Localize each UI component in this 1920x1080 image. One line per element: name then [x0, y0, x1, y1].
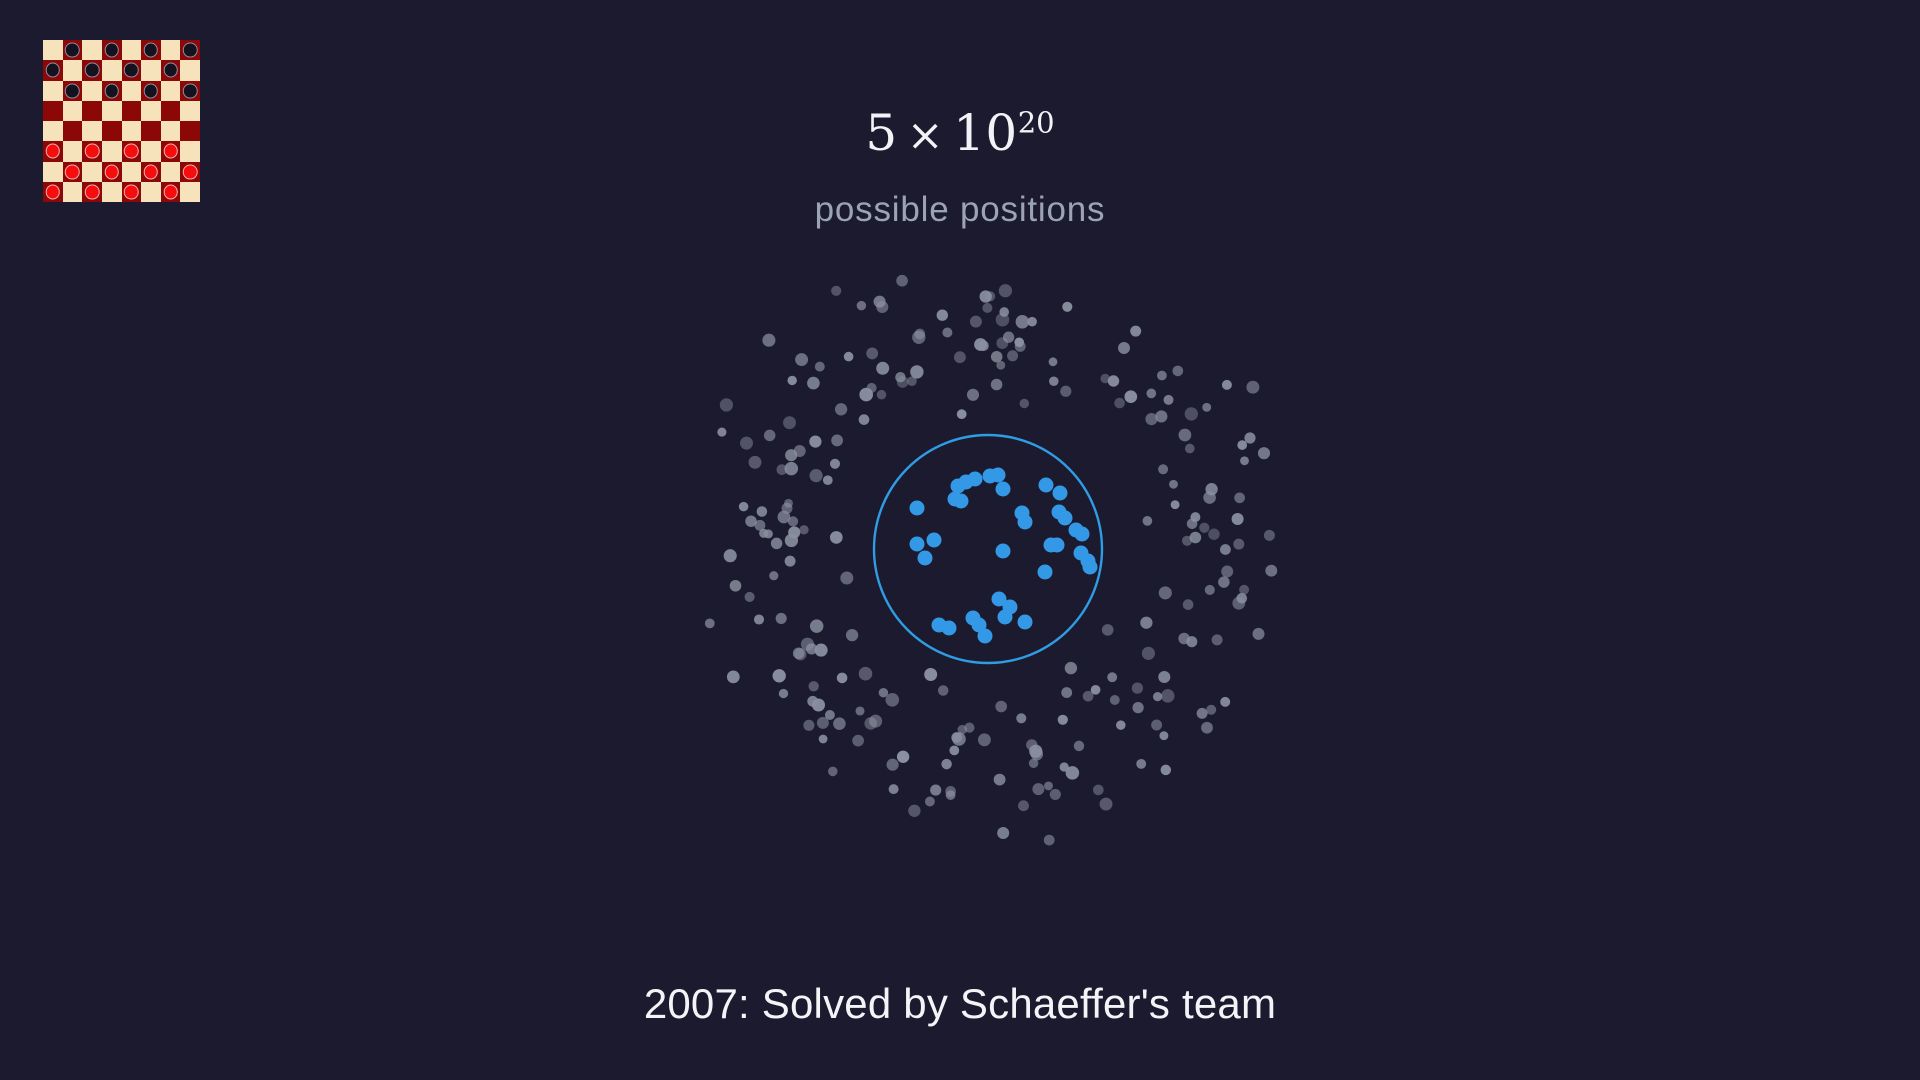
solved-position-dot	[959, 475, 974, 490]
unsolved-position-dot	[776, 613, 787, 624]
unsolved-position-dot	[996, 337, 1008, 349]
solved-position-dot	[996, 482, 1011, 497]
unsolved-position-dot	[1153, 692, 1162, 701]
unsolved-position-dot	[833, 717, 846, 730]
board-square[interactable]	[141, 40, 161, 60]
unsolved-position-dot	[844, 352, 854, 362]
unsolved-position-dot	[877, 390, 887, 400]
unsolved-position-dot	[812, 698, 825, 711]
solved-position-dot	[998, 610, 1013, 625]
unsolved-position-dot	[1146, 389, 1156, 399]
solved-positions-group	[910, 468, 1098, 644]
solved-position-dot	[1015, 506, 1030, 521]
black-checker-piece[interactable]	[65, 83, 80, 98]
unsolved-position-dot	[1220, 544, 1231, 555]
board-square[interactable]	[161, 81, 181, 101]
unsolved-position-dot	[925, 797, 935, 807]
unsolved-position-dot	[788, 526, 800, 538]
unsolved-position-dot	[1161, 689, 1174, 702]
solved-position-dot	[978, 629, 993, 644]
solved-position-dot	[910, 537, 925, 552]
solved-position-dot	[972, 618, 987, 633]
unsolved-position-dot	[1136, 759, 1146, 769]
board-square[interactable]	[161, 162, 181, 182]
unsolved-position-dot	[1201, 722, 1213, 734]
unsolved-position-dot	[806, 643, 817, 654]
unsolved-position-dot	[1158, 464, 1168, 474]
unsolved-positions-group	[705, 275, 1277, 846]
unsolved-position-dot	[785, 462, 799, 476]
black-checker-piece[interactable]	[85, 63, 100, 78]
unsolved-position-dot	[937, 310, 948, 321]
board-square[interactable]	[43, 60, 63, 80]
unsolved-position-dot	[831, 435, 843, 447]
unsolved-position-dot	[769, 571, 778, 580]
unsolved-position-dot	[1158, 671, 1170, 683]
unsolved-position-dot	[996, 361, 1005, 370]
unsolved-position-dot	[1014, 337, 1024, 347]
unsolved-position-dot	[803, 720, 814, 731]
unsolved-position-dot	[1218, 576, 1230, 588]
solved-position-dot	[1081, 554, 1096, 569]
unsolved-position-dot	[1132, 682, 1143, 693]
unsolved-position-dot	[1185, 407, 1198, 420]
unsolved-position-dot	[1155, 410, 1167, 422]
unsolved-position-dot	[1161, 765, 1172, 776]
unsolved-position-dot	[1124, 390, 1137, 403]
unsolved-position-dot	[1029, 759, 1039, 769]
unsolved-position-dot	[730, 580, 742, 592]
red-checker-piece[interactable]	[65, 164, 80, 179]
board-square[interactable]	[161, 40, 181, 60]
unsolved-position-dot	[912, 331, 925, 344]
unsolved-position-dot	[809, 681, 819, 691]
unsolved-position-dot	[1186, 636, 1197, 647]
unsolved-position-dot	[745, 592, 755, 602]
unsolved-position-dot	[859, 388, 873, 402]
black-checker-piece[interactable]	[65, 43, 80, 58]
unsolved-position-dot	[1199, 523, 1209, 533]
unsolved-position-dot	[1178, 633, 1190, 645]
unsolved-position-dot	[910, 365, 923, 378]
unsolved-position-dot	[978, 341, 989, 352]
unsolved-position-dot	[1016, 713, 1026, 723]
unsolved-position-dot	[885, 693, 899, 707]
unsolved-position-dot	[819, 735, 828, 744]
unsolved-position-dot	[1246, 381, 1259, 394]
unsolved-position-dot	[1206, 705, 1216, 715]
unsolved-position-dot	[996, 313, 1010, 327]
solved-position-dot	[942, 621, 957, 636]
unsolved-position-dot	[1172, 366, 1183, 377]
unsolved-position-dot	[859, 667, 873, 681]
unsolved-position-dot	[1212, 634, 1223, 645]
unsolved-position-dot	[727, 671, 740, 684]
unsolved-position-dot	[1190, 532, 1202, 544]
unsolved-position-dot	[830, 459, 840, 469]
unsolved-position-dot	[867, 383, 877, 393]
unsolved-position-dot	[785, 556, 796, 567]
unsolved-position-dot	[828, 767, 838, 777]
solved-position-dot	[927, 533, 942, 548]
solved-position-dot	[1074, 546, 1089, 561]
unsolved-position-dot	[817, 717, 829, 729]
solved-position-dot	[1052, 505, 1067, 520]
unsolved-position-dot	[964, 723, 974, 733]
unsolved-position-dot	[1205, 483, 1217, 495]
unsolved-position-dot	[958, 725, 968, 735]
unsolved-position-dot	[799, 525, 808, 534]
board-square[interactable]	[141, 60, 161, 80]
unsolved-position-dot	[1179, 429, 1192, 442]
red-checker-piece[interactable]	[144, 164, 159, 179]
unsolved-position-dot	[897, 751, 909, 763]
unsolved-position-dot	[1203, 491, 1216, 504]
board-square[interactable]	[63, 60, 83, 80]
board-square[interactable]	[63, 162, 83, 182]
unsolved-position-dot	[1062, 302, 1072, 312]
unsolved-position-dot	[1157, 371, 1167, 381]
unsolved-position-dot	[1118, 342, 1130, 354]
unsolved-position-dot	[778, 511, 791, 524]
unsolved-position-dot	[1058, 715, 1068, 725]
board-square[interactable]	[141, 81, 161, 101]
unsolved-position-dot	[1114, 398, 1125, 409]
black-checker-piece[interactable]	[104, 83, 119, 98]
unsolved-position-dot	[717, 428, 726, 437]
board-square[interactable]	[43, 81, 63, 101]
unsolved-position-dot	[1220, 697, 1230, 707]
unsolved-position-dot	[1032, 783, 1044, 795]
unsolved-position-dot	[1197, 708, 1208, 719]
unsolved-position-dot	[1100, 798, 1113, 811]
black-checker-piece[interactable]	[46, 63, 61, 78]
unsolved-position-dot	[1018, 800, 1029, 811]
unsolved-position-dot	[1190, 512, 1200, 522]
unsolved-position-dot	[788, 516, 798, 526]
unsolved-position-dot	[815, 644, 828, 657]
unsolved-position-dot	[924, 668, 937, 681]
unsolved-position-dot	[879, 688, 889, 698]
solved-position-dot	[932, 618, 947, 633]
unsolved-position-dot	[794, 648, 806, 660]
board-square[interactable]	[161, 60, 181, 80]
unsolved-position-dot	[1264, 530, 1275, 541]
board-square[interactable]	[180, 40, 200, 60]
board-square[interactable]	[122, 81, 142, 101]
unsolved-position-dot	[1233, 539, 1244, 550]
unsolved-position-dot	[1171, 500, 1180, 509]
unsolved-position-dot	[788, 376, 797, 385]
unsolved-position-dot	[907, 376, 917, 386]
unsolved-position-dot	[764, 430, 776, 442]
solved-position-dot	[1018, 515, 1033, 530]
unsolved-position-dot	[978, 733, 991, 746]
board-square[interactable]	[141, 162, 161, 182]
unsolved-position-dot	[985, 291, 995, 301]
red-checker-piece[interactable]	[183, 164, 198, 179]
unsolved-position-dot	[794, 445, 806, 457]
board-square[interactable]	[63, 81, 83, 101]
unsolved-position-dot	[974, 338, 987, 351]
unsolved-position-dot	[1183, 599, 1194, 610]
unsolved-position-dot	[889, 784, 899, 794]
unsolved-position-dot	[724, 549, 737, 562]
unsolved-position-dot	[1202, 403, 1211, 412]
board-square[interactable]	[102, 162, 122, 182]
position-scatter-plot	[0, 0, 1920, 1080]
unsolved-position-dot	[739, 502, 748, 511]
unsolved-position-dot	[1159, 731, 1168, 740]
unsolved-position-dot	[801, 638, 814, 651]
solved-position-dot	[991, 468, 1006, 483]
unsolved-position-dot	[970, 316, 982, 328]
unsolved-position-dot	[896, 275, 908, 287]
unsolved-position-dot	[1239, 585, 1249, 595]
unsolved-position-dot	[1232, 513, 1244, 525]
unsolved-position-dot	[785, 449, 797, 461]
solved-position-dot	[1069, 523, 1084, 538]
unsolved-position-dot	[1007, 350, 1018, 361]
board-square[interactable]	[122, 162, 142, 182]
unsolved-position-dot	[1026, 739, 1037, 750]
unsolved-position-dot	[720, 398, 733, 411]
black-checker-piece[interactable]	[183, 43, 198, 58]
unsolved-position-dot	[1015, 341, 1026, 352]
unsolved-position-dot	[1049, 357, 1058, 366]
solved-position-dot	[992, 592, 1007, 607]
unsolved-position-dot	[793, 647, 805, 659]
unsolved-position-dot	[1061, 687, 1072, 698]
unsolved-position-dot	[1016, 315, 1030, 329]
unsolved-position-dot	[997, 827, 1009, 839]
unsolved-position-dot	[831, 286, 841, 296]
board-square[interactable]	[122, 60, 142, 80]
black-checker-piece[interactable]	[144, 43, 159, 58]
unsolved-position-dot	[825, 710, 835, 720]
black-checker-piece[interactable]	[144, 83, 159, 98]
solved-position-dot	[1044, 538, 1059, 553]
headline-exponent: 20	[1018, 105, 1055, 139]
unsolved-position-dot	[1232, 597, 1245, 610]
unsolved-position-dot	[1060, 386, 1071, 397]
unsolved-position-dot	[999, 307, 1009, 317]
unsolved-position-dot	[1102, 624, 1114, 636]
unsolved-position-dot	[749, 456, 762, 469]
unsolved-position-dot	[1222, 380, 1232, 390]
solved-position-dot	[1018, 615, 1033, 630]
board-square[interactable]	[43, 162, 63, 182]
board-square[interactable]	[63, 40, 83, 60]
solved-position-dot	[951, 479, 966, 494]
solved-position-dot	[996, 544, 1011, 559]
unsolved-position-dot	[1164, 395, 1174, 405]
unsolved-position-dot	[938, 685, 949, 696]
unsolved-position-dot	[942, 327, 952, 337]
unsolved-position-dot	[705, 619, 715, 629]
unsolved-position-dot	[782, 503, 793, 514]
board-square[interactable]	[82, 60, 102, 80]
board-square[interactable]	[180, 60, 200, 80]
unsolved-position-dot	[809, 436, 821, 448]
board-square[interactable]	[102, 40, 122, 60]
unsolved-position-dot	[1066, 766, 1080, 780]
unsolved-position-dot	[982, 303, 992, 313]
unsolved-position-dot	[754, 520, 765, 531]
board-square[interactable]	[122, 40, 142, 60]
board-square[interactable]	[180, 81, 200, 101]
unsolved-position-dot	[784, 499, 793, 508]
unsolved-position-dot	[777, 464, 788, 475]
unsolved-position-dot	[807, 377, 820, 390]
unsolved-position-dot	[810, 619, 823, 632]
red-checker-piece[interactable]	[104, 164, 119, 179]
solved-region-circle	[874, 435, 1102, 663]
unsolved-position-dot	[771, 538, 782, 549]
unsolved-position-dot	[773, 669, 786, 682]
unsolved-position-dot	[994, 774, 1006, 786]
black-checker-piece[interactable]	[183, 83, 198, 98]
unsolved-position-dot	[869, 715, 882, 728]
black-checker-piece[interactable]	[104, 43, 119, 58]
unsolved-position-dot	[1252, 628, 1264, 640]
unsolved-position-dot	[1265, 565, 1277, 577]
slide-caption: 2007: Solved by Schaeffer's team	[0, 980, 1920, 1028]
unsolved-position-dot	[1258, 447, 1270, 459]
unsolved-position-dot	[1027, 317, 1037, 327]
unsolved-position-dot	[855, 706, 864, 715]
unsolved-position-dot	[1244, 432, 1255, 443]
board-square[interactable]	[82, 162, 102, 182]
unsolved-position-dot	[954, 351, 966, 363]
headline-base: 10	[953, 104, 1018, 162]
unsolved-position-dot	[1108, 375, 1119, 386]
unsolved-position-dot	[930, 785, 941, 796]
unsolved-position-dot	[779, 689, 788, 698]
unsolved-position-dot	[945, 786, 956, 797]
board-square[interactable]	[43, 40, 63, 60]
board-square[interactable]	[180, 162, 200, 182]
black-checker-piece[interactable]	[163, 63, 178, 78]
page-title: 5×1020	[0, 108, 1920, 158]
unsolved-position-dot	[876, 362, 889, 375]
unsolved-position-dot	[1159, 586, 1172, 599]
unsolved-position-dot	[1003, 332, 1014, 343]
board-square[interactable]	[102, 81, 122, 101]
unsolved-position-dot	[876, 301, 888, 313]
solved-position-dot	[1075, 527, 1090, 542]
solved-position-dot	[918, 551, 933, 566]
unsolved-position-dot	[1083, 691, 1094, 702]
unsolved-position-dot	[754, 614, 764, 624]
unsolved-position-dot	[823, 475, 833, 485]
unsolved-position-dot	[745, 515, 757, 527]
unsolved-position-dot	[1145, 413, 1157, 425]
unsolved-position-dot	[1240, 456, 1249, 465]
unsolved-position-dot	[1237, 593, 1248, 604]
unsolved-position-dot	[1169, 480, 1178, 489]
unsolved-position-dot	[759, 529, 768, 538]
unsolved-position-dot	[1060, 762, 1069, 771]
solved-position-dot	[954, 494, 969, 509]
solved-position-dot	[948, 492, 963, 507]
unsolved-position-dot	[1093, 785, 1104, 796]
unsolved-position-dot	[1151, 720, 1162, 731]
unsolved-position-dot	[1074, 741, 1084, 751]
unsolved-position-dot	[795, 353, 808, 366]
solved-position-dot	[1083, 560, 1098, 575]
unsolved-position-dot	[1029, 745, 1042, 758]
unsolved-position-dot	[815, 362, 825, 372]
unsolved-position-dot	[941, 759, 951, 769]
unsolved-position-dot	[1140, 617, 1152, 629]
solved-position-dot	[983, 469, 998, 484]
unsolved-position-dot	[1187, 519, 1198, 530]
solved-position-dot	[1039, 478, 1054, 493]
solved-position-dot	[1050, 538, 1065, 553]
unsolved-position-dot	[1205, 585, 1215, 595]
unsolved-position-dot	[1116, 720, 1125, 729]
unsolved-position-dot	[951, 732, 962, 743]
unsolved-position-dot	[887, 759, 899, 771]
unsolved-position-dot	[1185, 444, 1195, 454]
unsolved-position-dot	[895, 372, 905, 382]
unsolved-position-dot	[864, 717, 877, 730]
unsolved-position-dot	[1130, 326, 1141, 337]
unsolved-position-dot	[1107, 672, 1117, 682]
multiplication-sign-icon: ×	[898, 110, 953, 161]
unsolved-position-dot	[995, 701, 1007, 713]
unsolved-position-dot	[1100, 374, 1110, 384]
unsolved-position-dot	[967, 389, 979, 401]
unsolved-position-dot	[1234, 492, 1245, 503]
board-square[interactable]	[82, 40, 102, 60]
unsolved-position-dot	[1020, 399, 1030, 409]
unsolved-position-dot	[859, 414, 870, 425]
unsolved-position-dot	[1142, 647, 1155, 660]
board-square[interactable]	[102, 60, 122, 80]
board-square[interactable]	[82, 81, 102, 101]
unsolved-position-dot	[949, 746, 959, 756]
unsolved-position-dot	[740, 437, 753, 450]
unsolved-position-dot	[1143, 516, 1153, 526]
unsolved-position-dot	[1044, 835, 1055, 846]
unsolved-position-dot	[897, 376, 909, 388]
unsolved-position-dot	[1208, 528, 1219, 539]
unsolved-position-dot	[857, 301, 866, 310]
unsolved-position-dot	[830, 531, 843, 544]
unsolved-position-dot	[1182, 536, 1192, 546]
unsolved-position-dot	[914, 329, 925, 340]
unsolved-position-dot	[1044, 781, 1053, 790]
unsolved-position-dot	[957, 409, 967, 419]
solved-position-dot	[1058, 511, 1073, 526]
solved-position-dot	[1053, 486, 1068, 501]
unsolved-position-dot	[1049, 377, 1059, 387]
black-checker-piece[interactable]	[124, 63, 139, 78]
unsolved-position-dot	[837, 673, 848, 684]
solved-position-dot	[1038, 565, 1053, 580]
solved-position-dot	[968, 472, 983, 487]
unsolved-position-dot	[840, 572, 853, 585]
headline-coefficient: 5	[865, 104, 897, 162]
unsolved-position-dot	[846, 629, 858, 641]
unsolved-position-dot	[980, 290, 992, 302]
unsolved-position-dot	[952, 732, 966, 746]
unsolved-position-dot	[1050, 789, 1061, 800]
unsolved-position-dot	[762, 334, 775, 347]
unsolved-position-dot	[991, 351, 1003, 363]
